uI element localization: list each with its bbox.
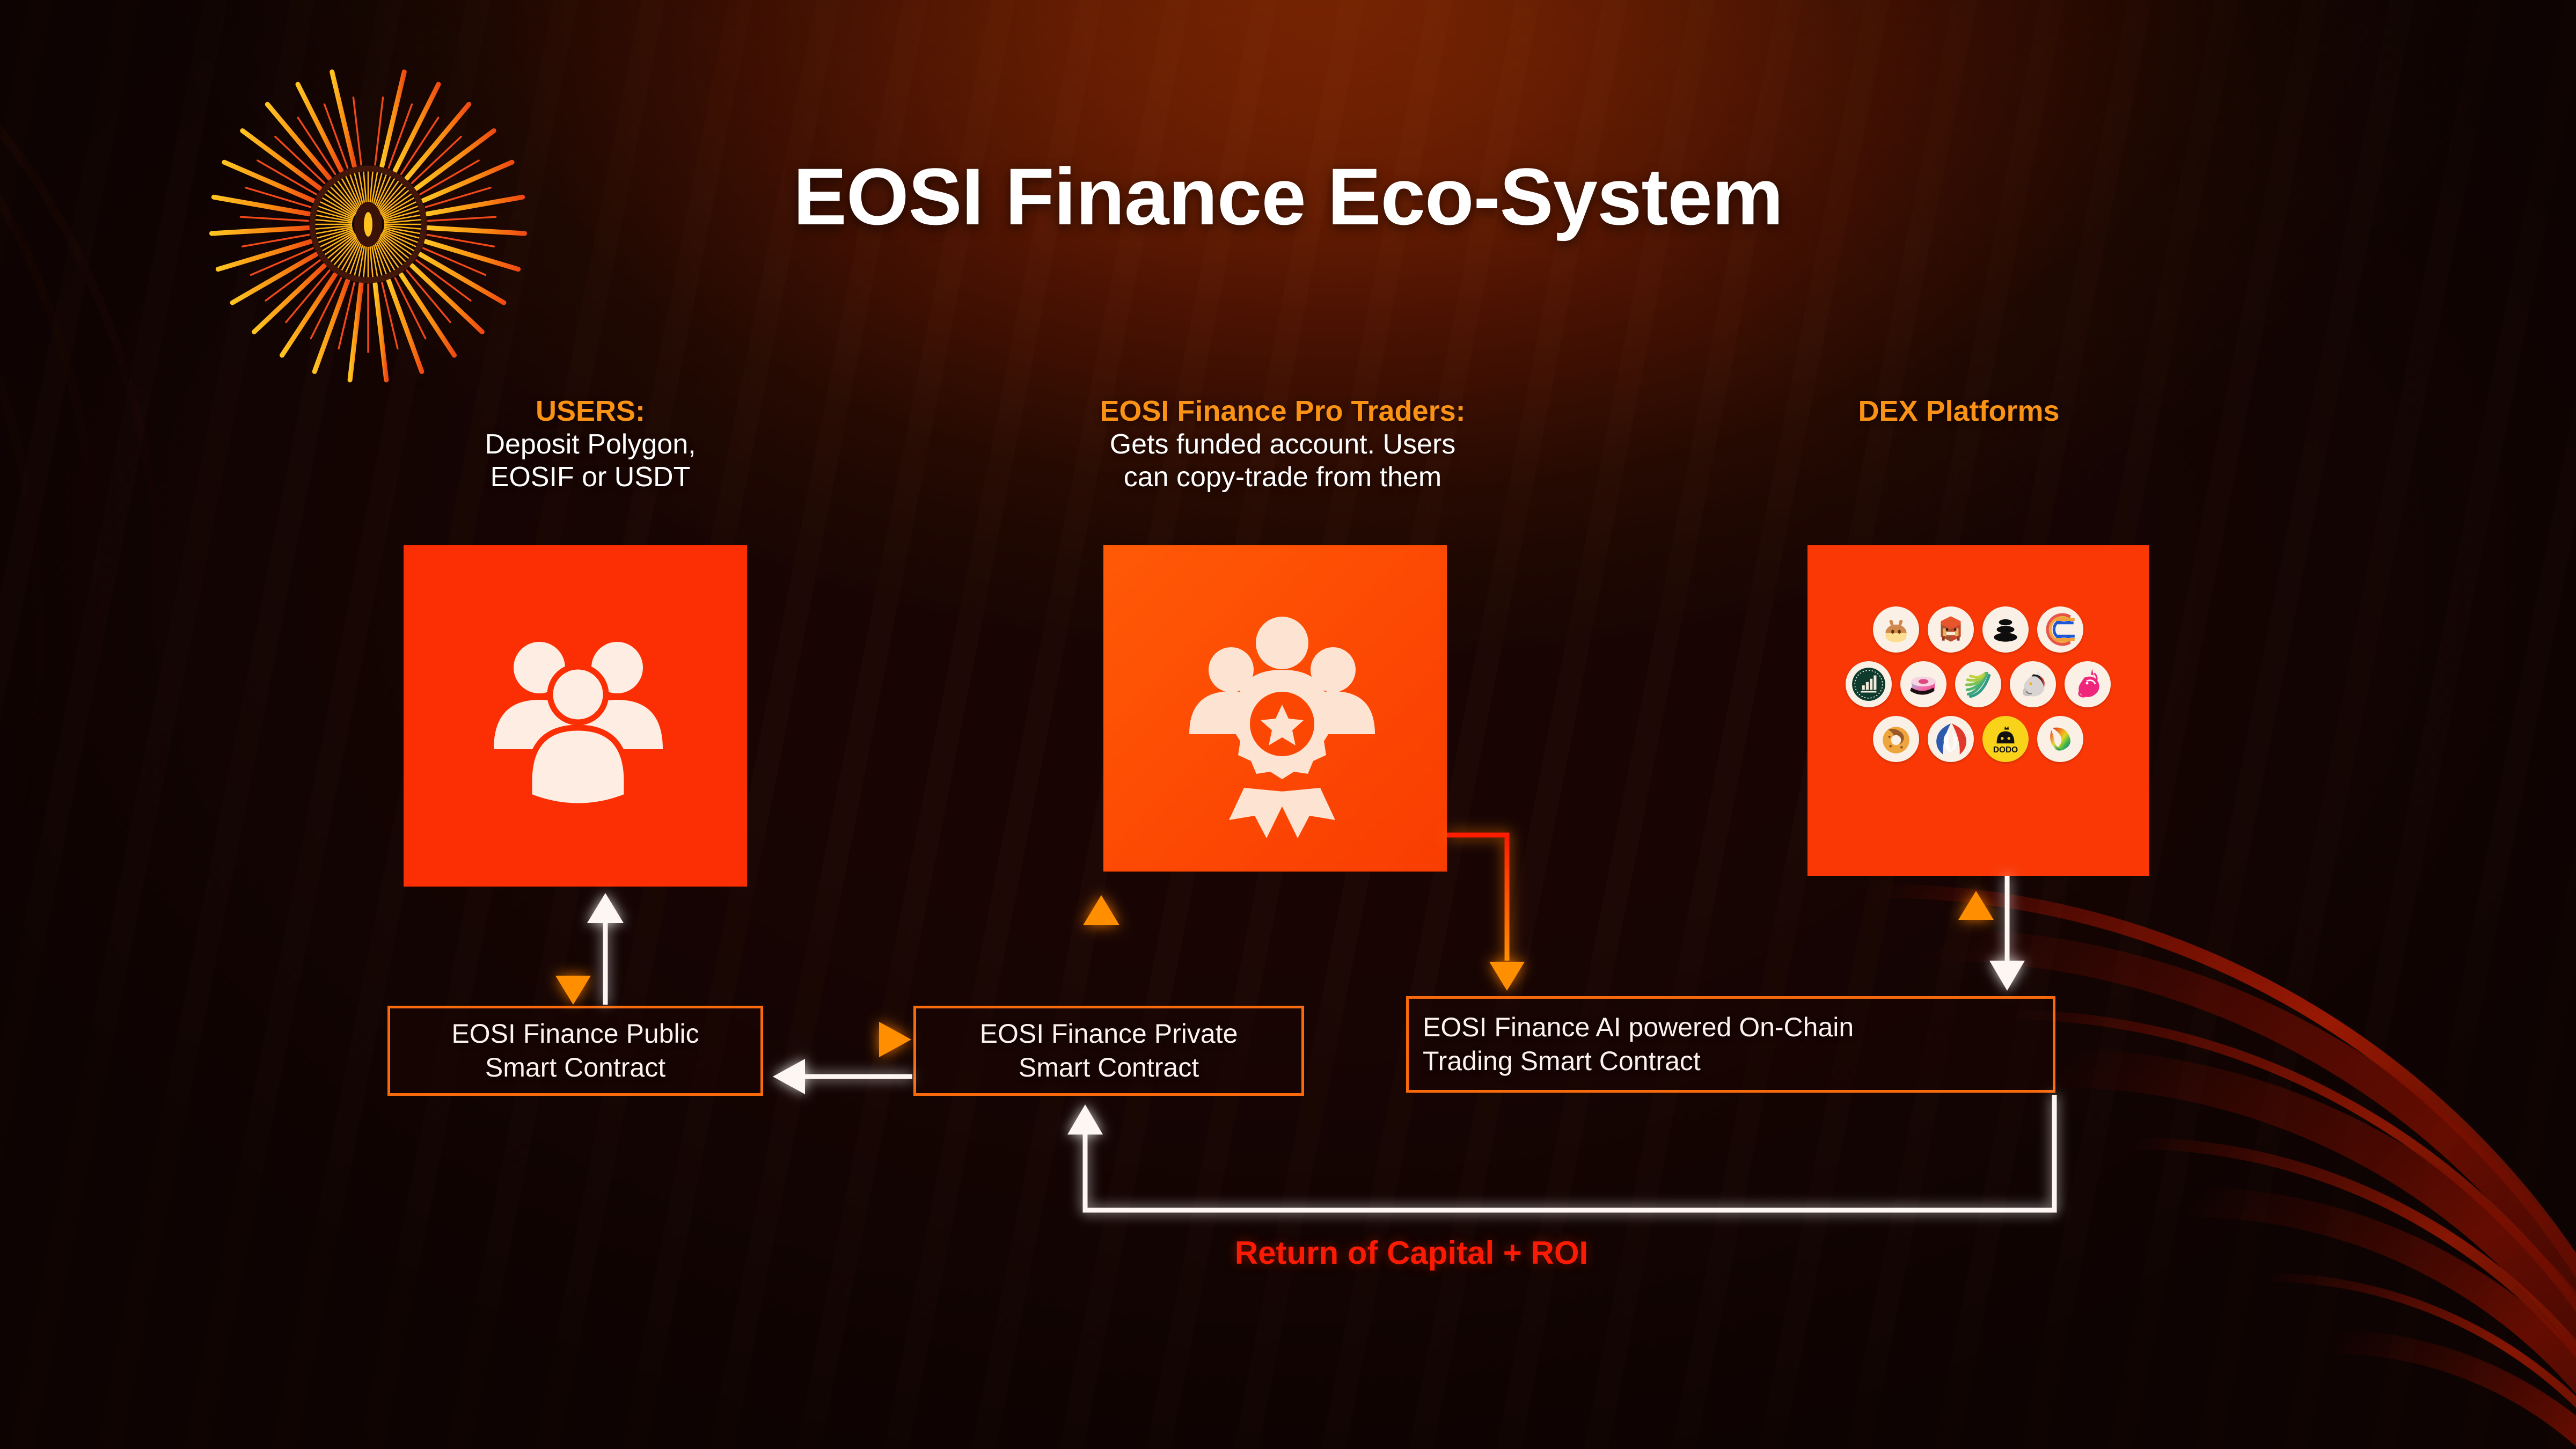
users-group-icon <box>404 545 747 887</box>
flow-caption-return-of-capital: Return of Capital + ROI <box>1089 1234 1733 1271</box>
users-image-tile <box>404 545 747 887</box>
contract-ai-line1: EOSI Finance AI powered On-Chain <box>1423 1012 1854 1042</box>
rainbow-swirl-icon <box>2037 716 2083 762</box>
contract-ai-text: EOSI Finance AI powered On-Chain Trading… <box>1423 1011 1854 1078</box>
balancer-icon <box>1982 606 2029 653</box>
pancakeswap-icon <box>1873 606 1919 653</box>
svg-text:DODO: DODO <box>1993 745 2018 755</box>
pinkswap-unicorn-icon <box>2065 661 2111 707</box>
column-header-users: USERS: Deposit Polygon, EOSIF or USDT <box>376 394 805 494</box>
curve-icon <box>2037 606 2083 653</box>
apeswap-arcs-icon <box>1955 661 2001 707</box>
slide-canvas: EOSI Finance Eco-System USERS: Deposit P… <box>0 0 2576 1449</box>
contract-private-text: EOSI Finance Private Smart Contract <box>980 1017 1238 1085</box>
oneinch-unicorn-icon <box>2010 661 2056 707</box>
pro-traders-image-tile <box>1103 545 1447 872</box>
pixel-trader-icon <box>1928 606 1974 653</box>
contract-public-line2: Smart Contract <box>485 1052 665 1082</box>
dex-row-3: DODO <box>1873 716 2083 762</box>
public-to-private-arrow <box>764 1022 911 1057</box>
dex-row-1 <box>1873 606 2083 653</box>
quickswap-bird-icon <box>1928 716 1974 762</box>
users-subtitle-line2: EOSIF or USDT <box>376 461 805 494</box>
dex-to-ai-arrow <box>1989 876 2025 991</box>
contract-ai-line2: Trading Smart Contract <box>1423 1046 1701 1076</box>
dex-row-2 <box>1846 661 2111 707</box>
contract-private-line2: Smart Contract <box>1019 1052 1199 1082</box>
traders-kicker: EOSI Finance Pro Traders: <box>982 394 1583 428</box>
dex-logo-grid: DODO <box>1807 606 2149 762</box>
users-deposit-down-arrow <box>555 887 591 1005</box>
contract-public-line1: EOSI Finance Public <box>451 1019 699 1049</box>
award-group-icon <box>1103 545 1447 872</box>
dex-image-tile: DODO <box>1807 545 2149 876</box>
traders-up-arrow <box>1083 895 1119 1005</box>
users-receive-up-arrow <box>587 893 624 1005</box>
traders-subtitle-line1: Gets funded account. Users <box>982 428 1583 461</box>
dodo-icon: DODO <box>1982 716 2029 762</box>
traders-subtitle-line2: can copy-trade from them <box>982 461 1583 494</box>
return-of-capital-arrow <box>1067 1095 2054 1210</box>
contract-private-line1: EOSI Finance Private <box>980 1019 1238 1049</box>
contract-box-public[interactable]: EOSI Finance Public Smart Contract <box>387 1006 763 1096</box>
column-header-pro-traders: EOSI Finance Pro Traders: Gets funded ac… <box>982 394 1583 494</box>
donutswap-icon <box>1873 716 1919 762</box>
users-kicker: USERS: <box>376 394 805 428</box>
users-subtitle-line1: Deposit Polygon, <box>376 428 805 461</box>
traders-to-ai-arrow <box>1447 835 1525 991</box>
private-to-public-arrow <box>773 1059 912 1094</box>
contract-public-text: EOSI Finance Public Smart Contract <box>451 1017 699 1085</box>
dfyn-coin-icon <box>1846 661 1892 707</box>
contract-box-ai-onchain[interactable]: EOSI Finance AI powered On-Chain Trading… <box>1406 996 2055 1093</box>
contract-box-private[interactable]: EOSI Finance Private Smart Contract <box>913 1006 1304 1096</box>
dex-kicker: DEX Platforms <box>1782 394 2136 428</box>
column-header-dex: DEX Platforms <box>1782 394 2136 428</box>
ai-to-dex-arrow <box>1958 891 1994 994</box>
sushiswap-icon <box>1900 661 1946 707</box>
page-title: EOSI Finance Eco-System <box>0 150 2576 243</box>
